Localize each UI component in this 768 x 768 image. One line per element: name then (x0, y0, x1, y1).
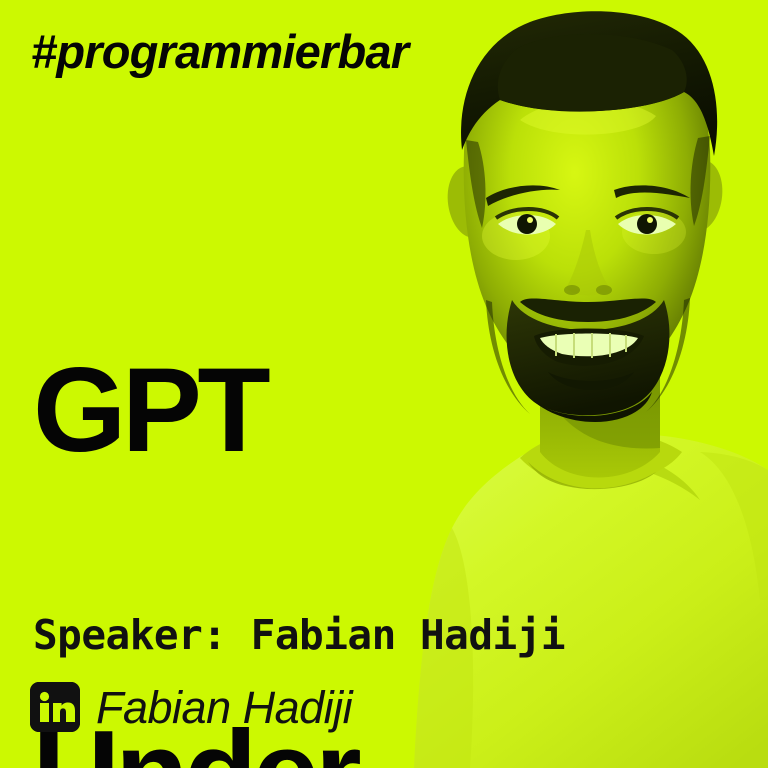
brand-hashtag: #programmierbar (31, 28, 408, 75)
episode-title: GPT Under the Hood (33, 108, 517, 768)
linkedin-handle-label: Fabian Hadiji (96, 685, 352, 730)
title-line-1: GPT (33, 350, 517, 471)
linkedin-handle-row[interactable]: Fabian Hadiji (30, 682, 352, 732)
podcast-episode-cover: #programmierbar GPT Under the Hood Speak… (0, 0, 768, 768)
linkedin-icon[interactable] (30, 682, 80, 732)
speaker-credit: Speaker: Fabian Hadiji (33, 613, 565, 658)
